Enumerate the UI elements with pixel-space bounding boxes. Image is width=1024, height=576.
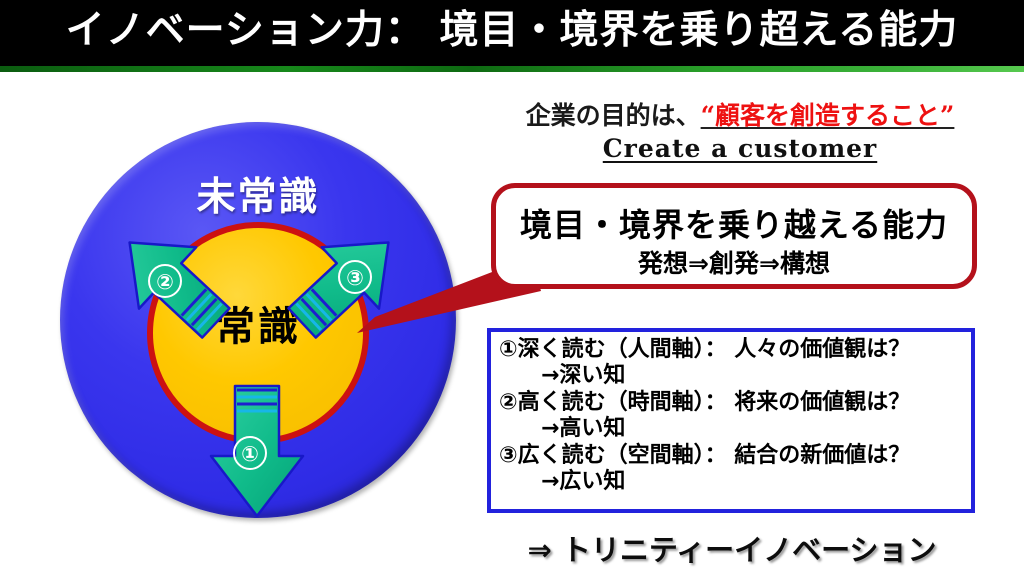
axis-question: ②高く読む（時間軸）： 将来の価値観は？ (497, 390, 971, 415)
outer-circle-label: 未常識 (60, 166, 456, 222)
axis-answer: →深い知 (497, 362, 971, 390)
purpose-english: Create a customer (470, 134, 1010, 163)
axis-question: ③広く読む（空間軸）： 結合の新価値は？ (497, 443, 971, 468)
reading-axes-list: ①深く読む（人間軸）： 人々の価値観は？ →深い知 ②高く読む（時間軸）： 将来… (497, 337, 971, 496)
capability-title: 境目・境界を乗り越える能力 (496, 200, 972, 246)
reading-axes-box: ①深く読む（人間軸）： 人々の価値観は？ →深い知 ②高く読む（時間軸）： 将来… (487, 328, 975, 513)
arrow-one-number: ① (233, 436, 267, 470)
capability-subtitle: 発想⇒創発⇒構想 (496, 244, 972, 280)
axis-answer: →広い知 (497, 468, 971, 496)
arrow-two: ② (102, 220, 242, 345)
arrow-two-number: ② (148, 264, 182, 298)
list-item: ③広く読む（空間軸）： 結合の新価値は？ →広い知 (497, 443, 971, 496)
purpose-statement: 企業の目的は、“顧客を創造すること” (470, 96, 1010, 132)
page-title: イノベーション力： 境目・境界を乗り超える能力 (0, 0, 1024, 66)
title-bar: イノベーション力： 境目・境界を乗り超える能力 (0, 0, 1024, 66)
conclusion-text: ⇒ トリニティーイノベーション (487, 527, 977, 569)
purpose-quote-text: “顧客を創造すること” (701, 101, 955, 130)
list-item: ②高く読む（時間軸）： 将来の価値観は？ →高い知 (497, 390, 971, 443)
purpose-lead-text: 企業の目的は、 (526, 101, 701, 130)
axis-question: ①深く読む（人間軸）： 人々の価値観は？ (497, 337, 971, 362)
axis-answer: →高い知 (497, 415, 971, 443)
purpose-english-text: Create a customer (603, 134, 877, 163)
list-item: ①深く読む（人間軸）： 人々の価値観は？ →深い知 (497, 337, 971, 390)
title-underline-rule (0, 66, 1024, 72)
arrow-one: ① (193, 380, 321, 520)
capability-callout-box: 境目・境界を乗り越える能力 発想⇒創発⇒構想 (491, 183, 977, 289)
